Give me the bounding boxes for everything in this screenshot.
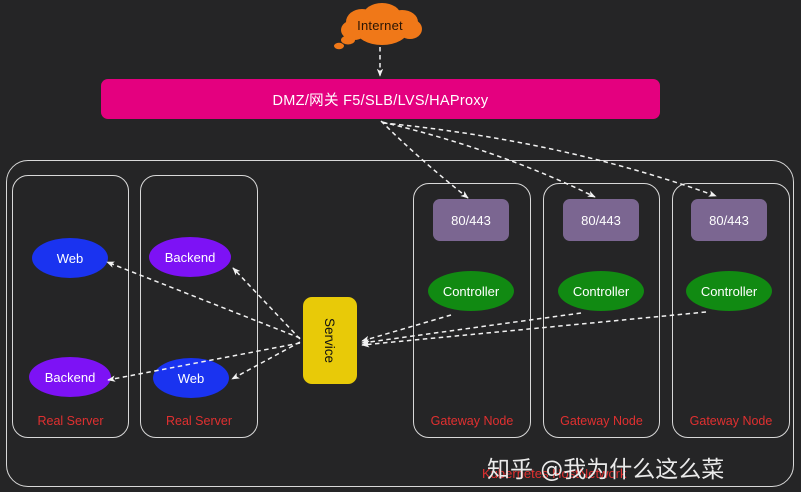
- pod-backend-rs2[interactable]: Backend: [149, 237, 231, 277]
- pod-web-rs2[interactable]: Web: [153, 358, 229, 398]
- internet-cloud: Internet: [332, 2, 432, 52]
- port-80-443-gw3[interactable]: 80/443: [691, 199, 767, 241]
- gateway-node-label-3: Gateway Node: [673, 414, 789, 428]
- port-80-443-gw1[interactable]: 80/443: [433, 199, 509, 241]
- dmz-gateway-bar[interactable]: DMZ/网关 F5/SLB/LVS/HAProxy: [101, 79, 660, 119]
- internet-label: Internet: [332, 2, 428, 48]
- controller-gw3[interactable]: Controller: [686, 271, 772, 311]
- port-80-443-gw2[interactable]: 80/443: [563, 199, 639, 241]
- service-box[interactable]: Service: [303, 297, 357, 384]
- service-label: Service: [322, 318, 337, 363]
- controller-gw1[interactable]: Controller: [428, 271, 514, 311]
- pod-web-rs1[interactable]: Web: [32, 238, 108, 278]
- diagram-canvas: Internet DMZ/网关 F5/SLB/LVS/HAProxy Kuber…: [0, 0, 801, 492]
- watermark: 知乎 @我为什么这么菜: [487, 450, 724, 484]
- pod-backend-rs1[interactable]: Backend: [29, 357, 111, 397]
- real-server-label-1: Real Server: [13, 414, 128, 428]
- gateway-node-label-1: Gateway Node: [414, 414, 530, 428]
- gateway-node-label-2: Gateway Node: [544, 414, 659, 428]
- real-server-node-1: Real Server: [12, 175, 129, 438]
- controller-gw2[interactable]: Controller: [558, 271, 644, 311]
- real-server-node-2: Real Server: [140, 175, 258, 438]
- real-server-label-2: Real Server: [141, 414, 257, 428]
